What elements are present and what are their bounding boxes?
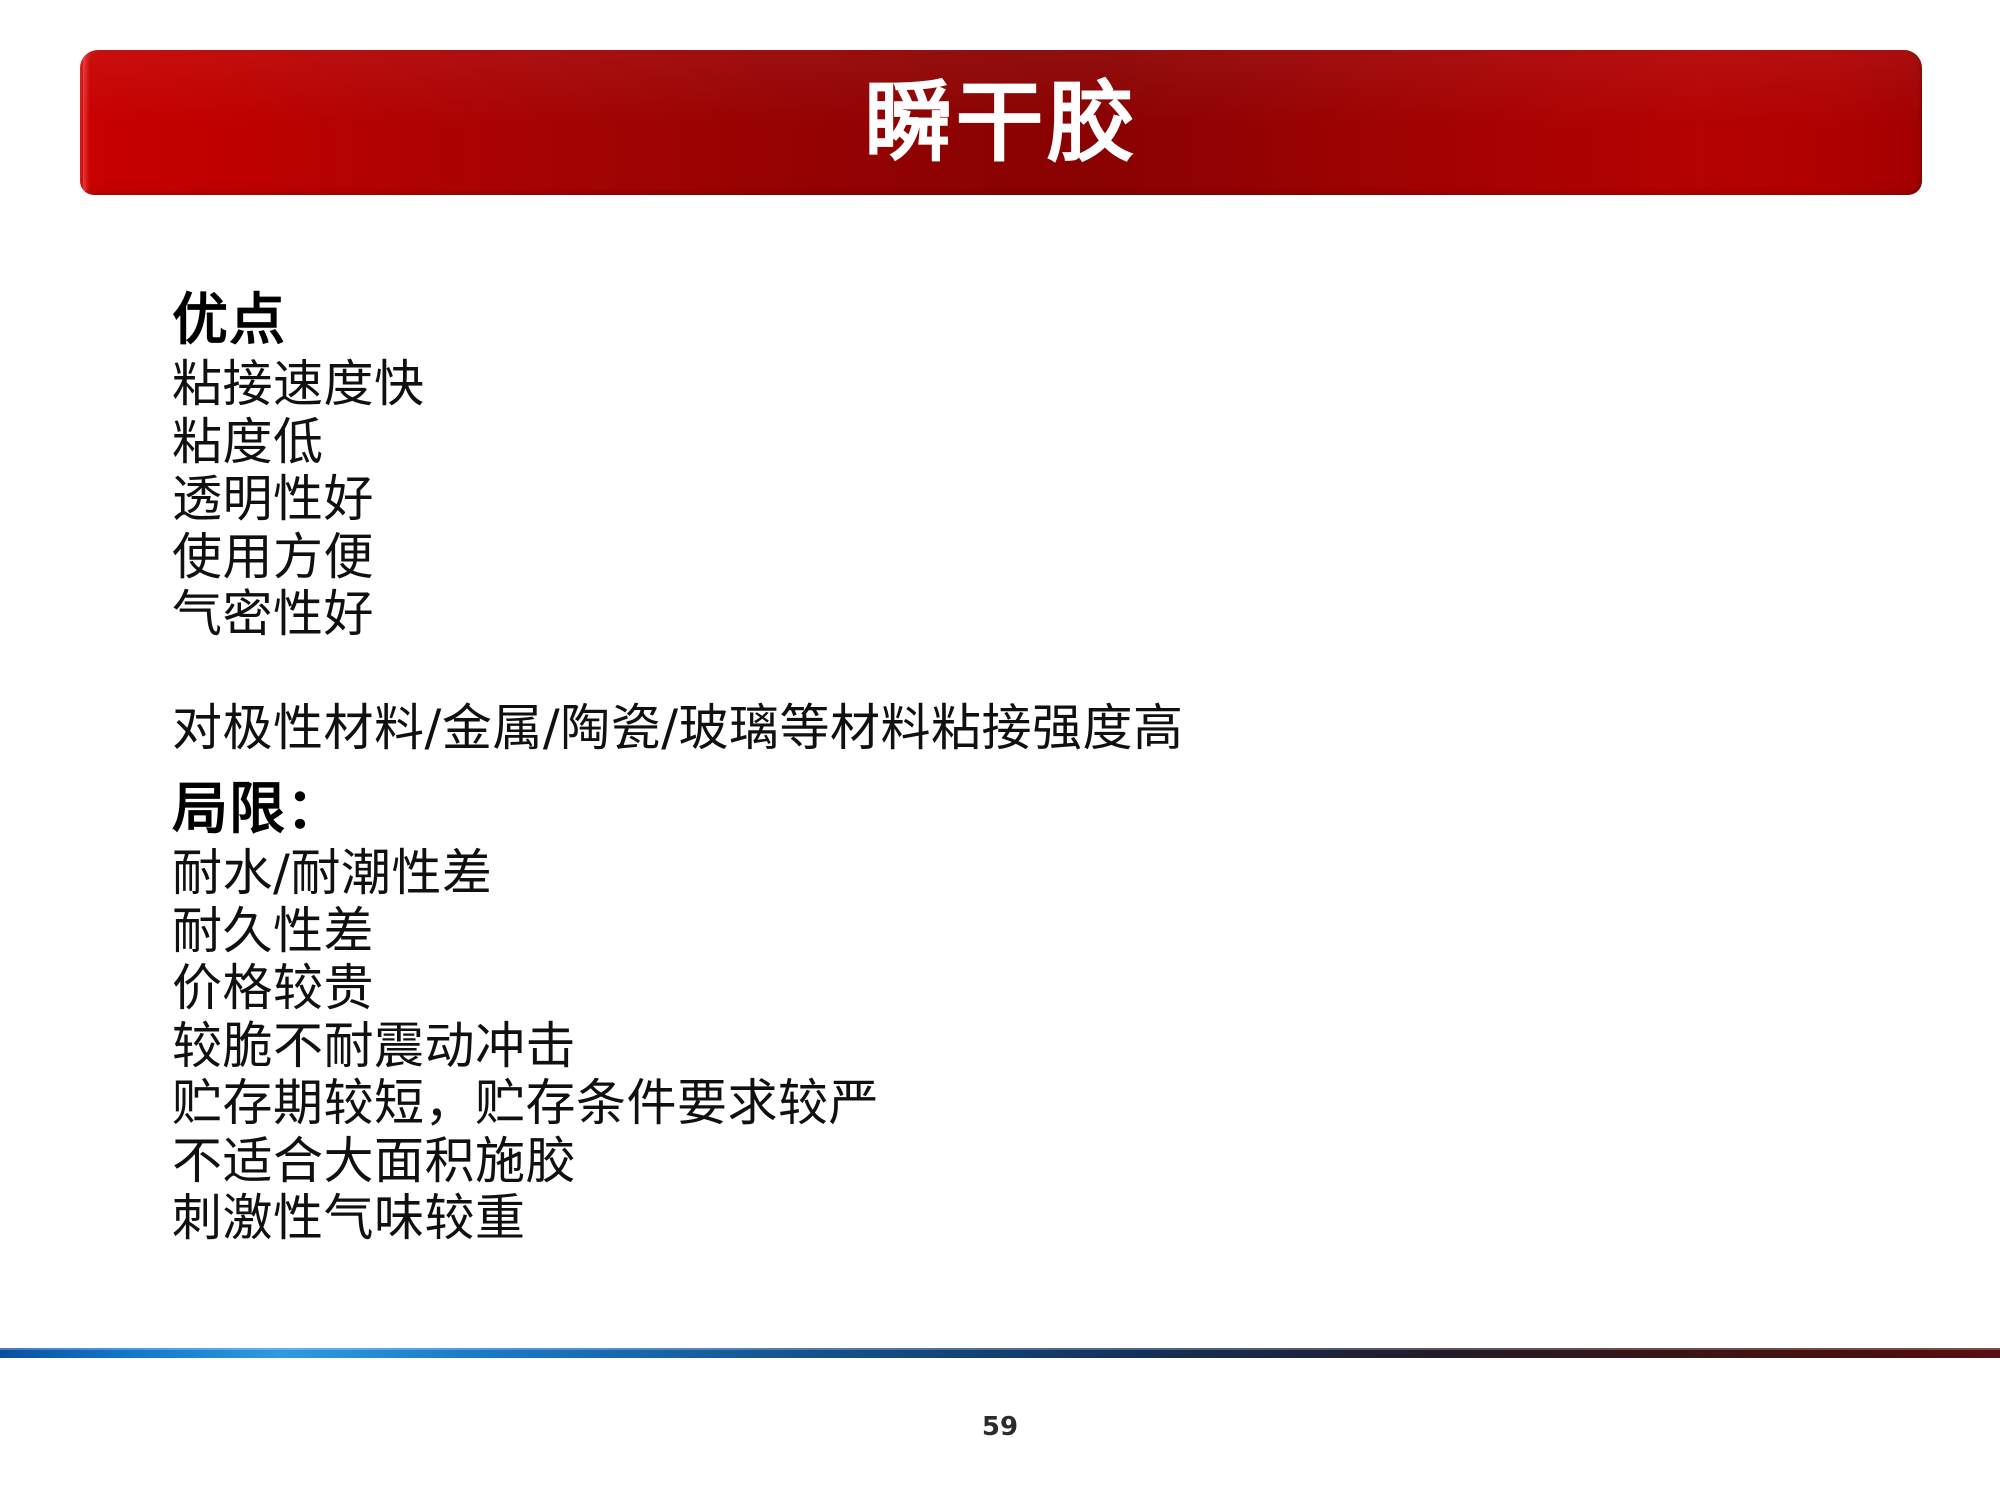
page-number: 59 (0, 1412, 2000, 1442)
limitation-item: 贮存期较短，贮存条件要求较严 (172, 1075, 1872, 1133)
advantage-item: 透明性好 (172, 471, 1872, 529)
footer-divider (0, 1348, 2000, 1358)
footer-divider-highlight (0, 1348, 2000, 1350)
slide-body: 优点 粘接速度快 粘度低 透明性好 使用方便 气密性好 对极性材料/金属/陶瓷/… (172, 288, 1872, 1248)
limitations-heading: 局限： (172, 777, 1872, 843)
advantage-item: 使用方便 (172, 529, 1872, 587)
limitation-item: 刺激性气味较重 (172, 1190, 1872, 1248)
page-title: 瞬干胶 (80, 79, 1922, 167)
paragraph-spacer (172, 644, 1872, 700)
section-spacer (172, 757, 1872, 773)
limitation-item: 较脆不耐震动冲击 (172, 1018, 1872, 1076)
limitation-item: 耐水/耐潮性差 (172, 845, 1872, 903)
limitation-item: 价格较贵 (172, 960, 1872, 1018)
advantage-item: 粘度低 (172, 414, 1872, 472)
advantage-item: 粘接速度快 (172, 356, 1872, 414)
title-banner: 瞬干胶 (80, 50, 1922, 195)
advantages-note: 对极性材料/金属/陶瓷/玻璃等材料粘接强度高 (172, 700, 1872, 758)
limitation-item: 不适合大面积施胶 (172, 1133, 1872, 1191)
limitation-item: 耐久性差 (172, 903, 1872, 961)
advantages-heading: 优点 (172, 288, 1872, 354)
slide-canvas: 瞬干胶 优点 粘接速度快 粘度低 透明性好 使用方便 气密性好 对极性材料/金属… (0, 0, 2000, 1500)
advantage-item: 气密性好 (172, 586, 1872, 644)
